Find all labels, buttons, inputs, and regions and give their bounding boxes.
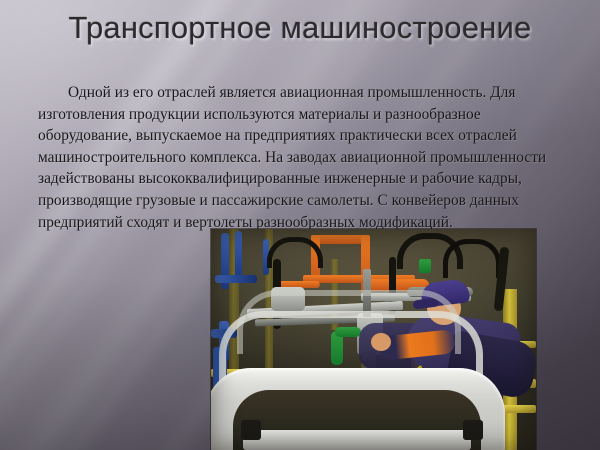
car-cross-member (243, 430, 471, 450)
slide-title: Транспортное машиностроение (0, 10, 600, 46)
factory-assembly-line-photo (211, 229, 536, 450)
car-mount-block (241, 420, 261, 440)
cable-arc (443, 239, 501, 278)
hydraulic-hose (235, 231, 242, 279)
presentation-slide: Транспортное машиностроение Одной из его… (0, 0, 600, 450)
hydraulic-hose (215, 275, 257, 283)
slide-body-paragraph: Одной из его отраслей является авиационн… (38, 82, 568, 233)
green-fixture (419, 259, 431, 273)
car-mount-block (463, 420, 483, 440)
